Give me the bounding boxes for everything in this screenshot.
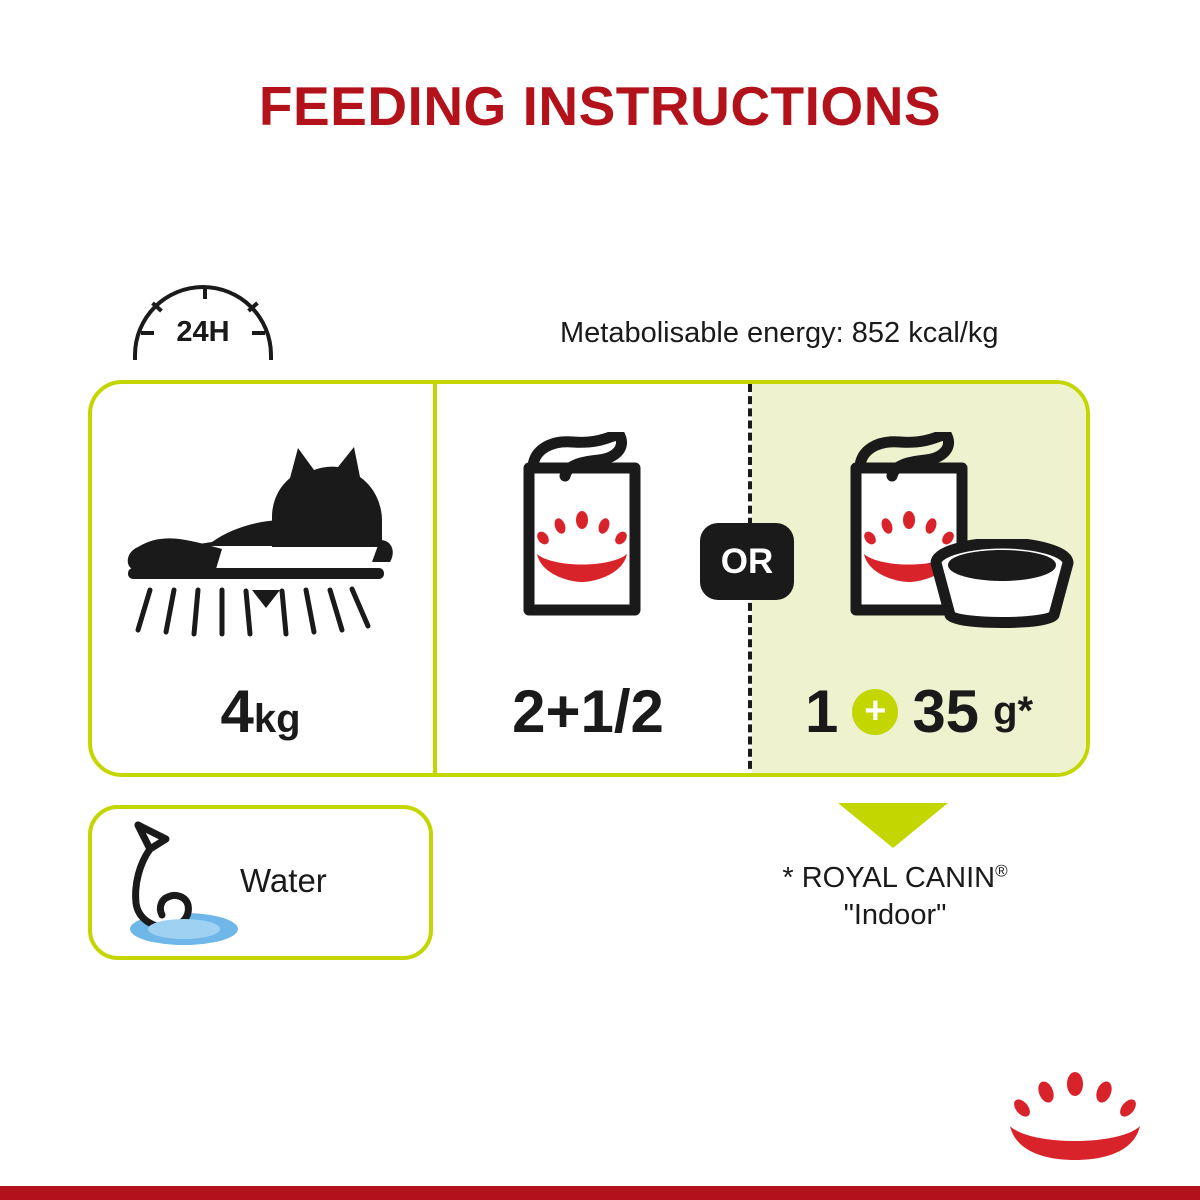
mixed-feeding-value: 1 + 35g* <box>748 677 1090 746</box>
pouch-only-value: 2+1/2 <box>433 677 743 746</box>
mixed-dry-amount: 35 <box>912 677 979 746</box>
cat-weight-value: 4kg <box>88 677 433 746</box>
water-label: Water <box>240 862 327 900</box>
mixed-dry-unit: g* <box>993 689 1033 734</box>
arrow-down-icon <box>838 803 948 848</box>
mixed-pouch-count: 1 <box>805 677 838 746</box>
cat-drinking-water-icon <box>110 819 255 949</box>
bottom-accent-bar <box>0 1186 1200 1200</box>
cat-weight-number: 4 <box>220 678 253 745</box>
or-badge: OR <box>700 523 794 600</box>
badge-24h-label: 24H <box>133 316 273 349</box>
product-footnote: * ROYAL CANIN® "Indoor" <box>700 860 1090 934</box>
royal-canin-crown-icon <box>1000 1070 1150 1160</box>
footnote-line-2: "Indoor" <box>844 899 947 931</box>
plus-icon: + <box>852 689 898 735</box>
registered-mark: ® <box>995 861 1008 880</box>
lying-cat-icon <box>122 444 412 639</box>
cat-weight-unit: kg <box>254 697 301 741</box>
food-bowl-icon <box>930 539 1074 629</box>
metabolisable-energy-note: Metabolisable energy: 852 kcal/kg <box>560 317 998 350</box>
pouch-icon <box>507 432 657 622</box>
footnote-line-1: * ROYAL CANIN <box>782 862 995 894</box>
page-title: FEEDING INSTRUCTIONS <box>0 74 1200 138</box>
